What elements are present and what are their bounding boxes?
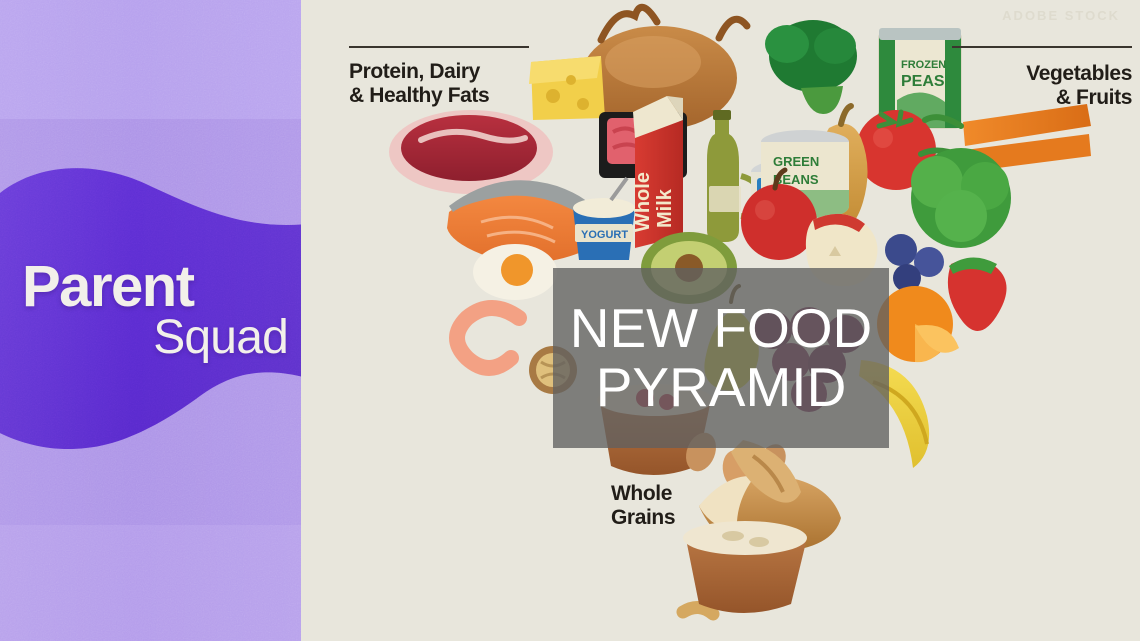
vegetables-label-rule: [952, 46, 1132, 48]
brand-name-parent: Parent: [22, 258, 290, 316]
food-whole-milk: Whole Milk: [632, 96, 683, 248]
panel-band-top: [0, 0, 301, 119]
news-title-overlay: NEW FOOD PYRAMID: [553, 268, 889, 448]
green-beans-line1: GREEN: [773, 154, 819, 169]
broadcast-graphic: Parent Squad ADOBE STOCK: [0, 0, 1140, 641]
protein-label-rule: [349, 46, 529, 48]
food-egg: [473, 244, 557, 300]
grains-label-line2: Grains: [611, 506, 675, 529]
content-area: ADOBE STOCK: [301, 0, 1140, 641]
milk-line2: Milk: [654, 188, 676, 228]
title-line-2: PYRAMID: [596, 358, 847, 417]
grains-label-line1: Whole: [611, 482, 672, 505]
food-grain-bowl: [683, 521, 807, 613]
brand-name-squad: Squad: [22, 314, 290, 362]
vegetables-label-line1: Vegetables: [1026, 62, 1132, 85]
food-strawberry: [948, 257, 1007, 330]
food-lettuce: [911, 148, 1011, 248]
food-yogurt: YOGURT: [573, 178, 635, 260]
panel-band-bottom: [0, 525, 301, 641]
protein-label-line1: Protein, Dairy: [349, 60, 480, 83]
food-broccoli: [765, 20, 857, 114]
vegetables-label-line2: & Fruits: [1056, 86, 1132, 109]
yogurt-label: YOGURT: [581, 229, 628, 241]
protein-label-line2: & Healthy Fats: [349, 84, 489, 107]
parent-squad-brand-panel: Parent Squad: [0, 0, 301, 641]
food-shrimp: [457, 308, 519, 368]
protein-category-label: Protein, Dairy & Healthy Fats: [349, 60, 559, 107]
title-line-1: NEW FOOD: [570, 299, 872, 358]
milk-line1: Whole: [632, 172, 654, 232]
brand-wordmark: Parent Squad: [22, 258, 290, 362]
whole-grains-category-label: Whole Grains: [611, 482, 731, 529]
vegetables-category-label: Vegetables & Fruits: [912, 62, 1132, 109]
food-blueberries: [885, 234, 944, 292]
